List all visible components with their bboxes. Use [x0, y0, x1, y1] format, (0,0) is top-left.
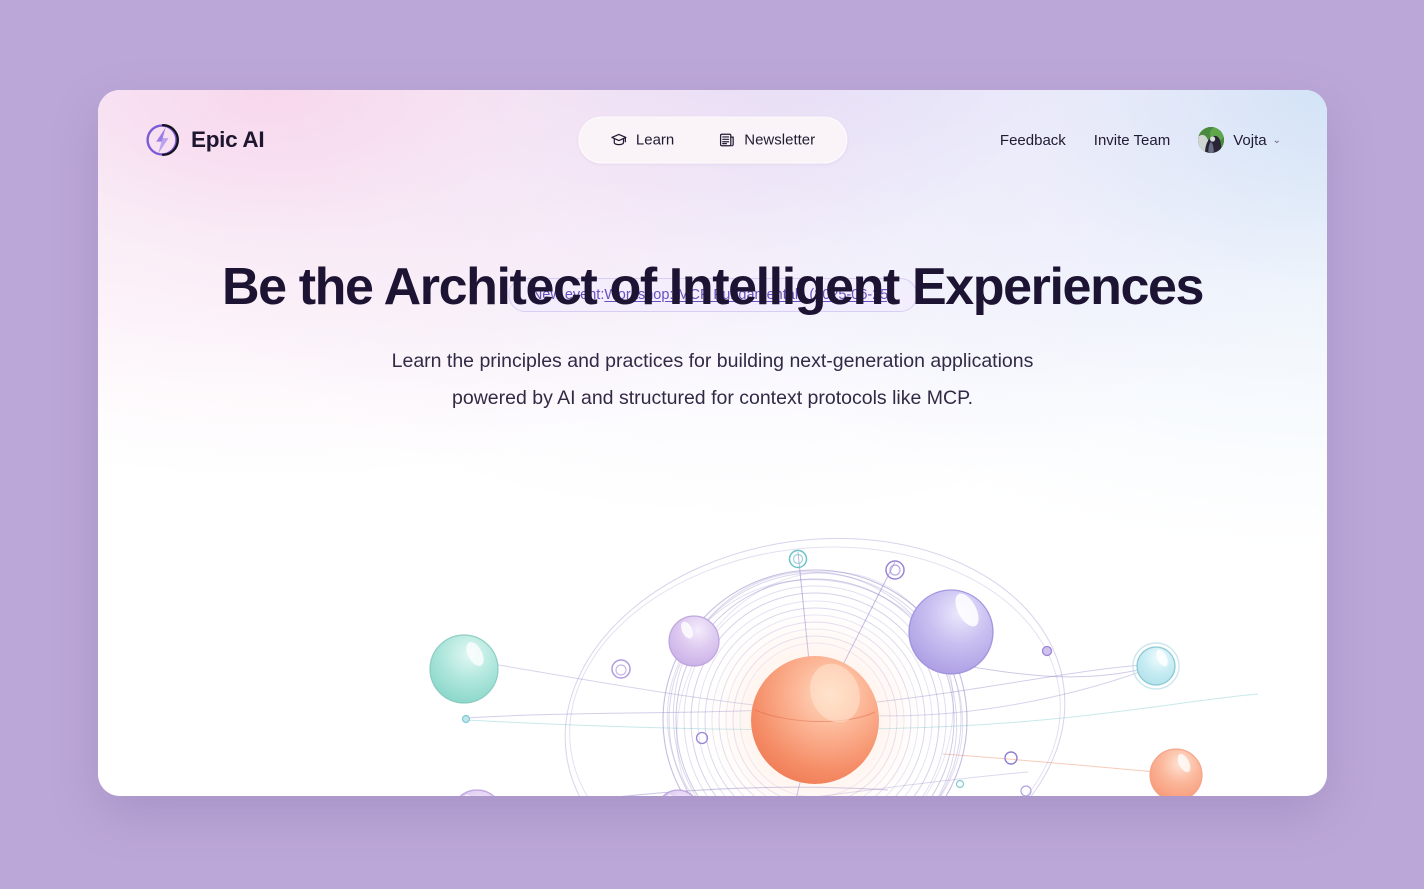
- orbital-network-illustration: [98, 442, 1327, 796]
- hero-subtitle-line-2: powered by AI and structured for context…: [98, 380, 1327, 417]
- hero-subtitle-line-1: Learn the principles and practices for b…: [98, 343, 1327, 380]
- page-root: Epic AI Learn: [0, 0, 1424, 889]
- app-card: Epic AI Learn: [98, 90, 1327, 796]
- hero-section: Be the Architect of Intelligent Experien…: [98, 90, 1327, 417]
- page-title: Be the Architect of Intelligent Experien…: [98, 258, 1327, 316]
- hero-subtitle: Learn the principles and practices for b…: [98, 343, 1327, 417]
